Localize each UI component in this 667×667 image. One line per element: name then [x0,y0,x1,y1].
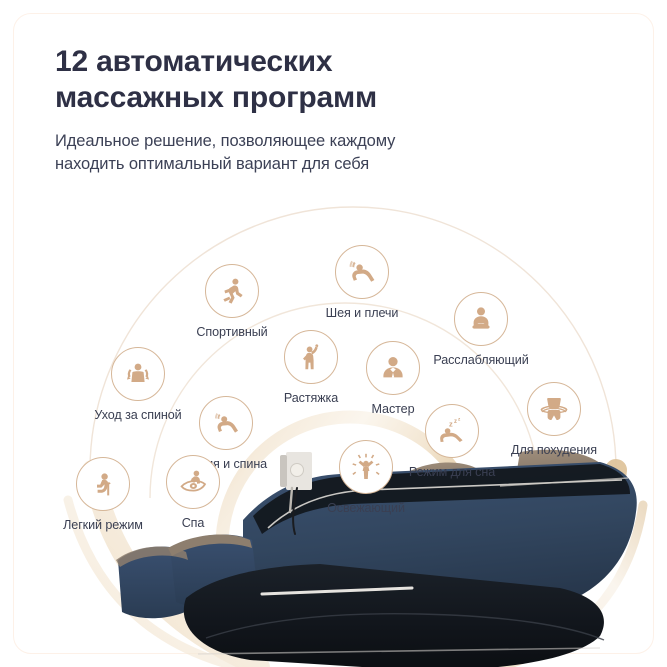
program-nodes: Уход за спиной Спортивный [0,0,667,667]
running-person-icon [205,264,259,318]
master-bust-icon [366,341,420,395]
program-node-refreshing[interactable]: Освежающий [286,440,446,516]
promo-banner: 12 автоматических массажных программ Иде… [0,0,667,667]
program-node-spa[interactable]: Спа [113,455,273,531]
program-label: Освежающий [327,501,405,516]
lotus-meditation-icon [454,292,508,346]
refresh-arms-up-icon [339,440,393,494]
program-label: Шея и плечи [326,306,399,321]
waist-tape-icon [527,382,581,436]
svg-text:z: z [458,417,461,422]
svg-text:z: z [454,419,457,425]
program-label: Для похудения [511,443,597,458]
program-label: Спа [182,516,205,531]
reclining-neck-icon [335,245,389,299]
svg-text:z: z [449,420,453,429]
spa-massage-icon [166,455,220,509]
program-node-slimming[interactable]: Для похудения [474,382,634,458]
person-arrows-icon [111,347,165,401]
